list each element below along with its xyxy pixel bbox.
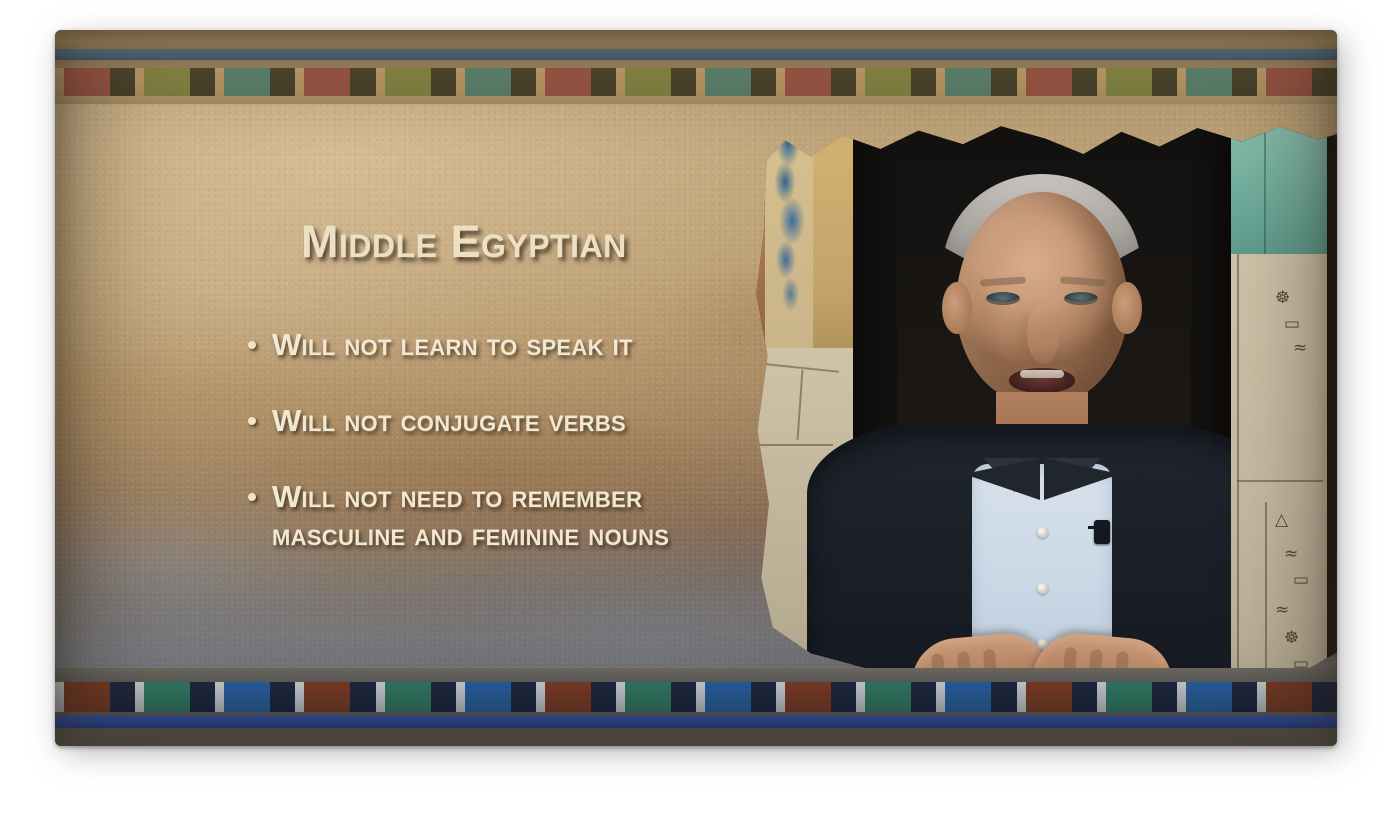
screenshot-canvas: Middle Egyptian Will not learn to speak … [0, 0, 1392, 832]
slide-vignette [55, 30, 1337, 746]
lecture-slide: Middle Egyptian Will not learn to speak … [55, 30, 1337, 746]
